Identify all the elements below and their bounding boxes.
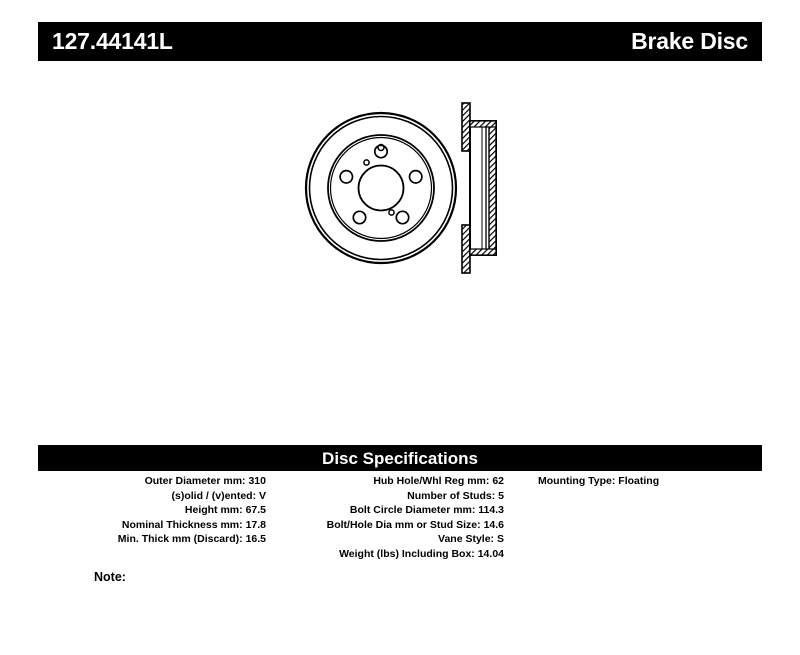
- spec-row: Bolt/Hole Dia mm or Stud Size: 14.6: [327, 518, 504, 533]
- disc-specifications-bar: Disc Specifications: [38, 445, 762, 471]
- brake-rotor-edge-view: [462, 103, 496, 273]
- spec-column-left: Outer Diameter mm: 310 (s)olid / (v)ente…: [38, 474, 266, 547]
- stud-hole-icon: [396, 211, 408, 223]
- spec-label: Hub Hole/Whl Reg mm:: [373, 475, 492, 487]
- spec-value: 114.3: [478, 504, 504, 516]
- technical-drawing: [38, 70, 762, 435]
- stud-hole-icon: [353, 211, 365, 223]
- spec-label: Height mm:: [185, 504, 246, 516]
- specifications-table: Outer Diameter mm: 310 (s)olid / (v)ente…: [38, 474, 762, 562]
- note-block: Note:: [94, 571, 330, 584]
- spec-value: 310: [248, 475, 266, 487]
- hub-bore-icon: [359, 166, 404, 211]
- spec-row: Min. Thick mm (Discard): 16.5: [118, 532, 266, 547]
- spec-value: 67.5: [246, 504, 266, 516]
- disc-outer-cheek-icon: [489, 121, 496, 255]
- disc-top-cheek-icon: [470, 121, 496, 127]
- stud-hole-icon: [410, 171, 422, 183]
- spec-value: 5: [498, 490, 504, 502]
- spec-row: Nominal Thickness mm: 17.8: [122, 518, 266, 533]
- stud-hole-icon: [375, 145, 387, 157]
- hat-flange-lower-icon: [462, 225, 470, 273]
- spec-label: Mounting Type:: [538, 475, 618, 487]
- brake-rotor-face-view: [306, 113, 456, 263]
- part-number: 127.44141L: [52, 30, 173, 53]
- spec-row: Height mm: 67.5: [185, 503, 266, 518]
- spec-value: Floating: [618, 475, 659, 487]
- spec-value: 62: [492, 475, 504, 487]
- spec-value: 16.5: [246, 533, 266, 545]
- spec-value: 14.6: [484, 519, 504, 531]
- locating-pin-hole-icon: [389, 210, 394, 215]
- spec-row: Vane Style: S: [438, 532, 504, 547]
- spec-label: Weight (lbs) Including Box:: [339, 548, 478, 560]
- spec-row: Bolt Circle Diameter mm: 114.3: [350, 503, 504, 518]
- hat-flange-upper-icon: [462, 103, 470, 151]
- spec-row: (s)olid / (v)ented: V: [171, 489, 266, 504]
- spec-value: 17.8: [246, 519, 266, 531]
- product-type-title: Brake Disc: [631, 30, 748, 53]
- note-label: Note:: [94, 571, 126, 584]
- spec-label: (s)olid / (v)ented:: [171, 490, 259, 502]
- spec-label: Bolt/Hole Dia mm or Stud Size:: [327, 519, 484, 531]
- spec-row: Mounting Type: Floating: [538, 474, 659, 489]
- spec-row: Hub Hole/Whl Reg mm: 62: [373, 474, 504, 489]
- spec-label: Min. Thick mm (Discard):: [118, 533, 246, 545]
- spec-column-right: Mounting Type: Floating: [504, 474, 754, 489]
- stud-hole-icon: [340, 171, 352, 183]
- spec-value: S: [497, 533, 504, 545]
- spec-value: V: [259, 490, 266, 502]
- spec-column-middle: Hub Hole/Whl Reg mm: 62 Number of Studs:…: [274, 474, 504, 562]
- spec-label: Nominal Thickness mm:: [122, 519, 246, 531]
- disc-specifications-title: Disc Specifications: [322, 450, 478, 467]
- spec-row: Weight (lbs) Including Box: 14.04: [339, 547, 504, 562]
- brake-disc-diagram: [38, 70, 762, 435]
- disc-bottom-cheek-icon: [470, 249, 496, 255]
- spec-row: Number of Studs: 5: [407, 489, 504, 504]
- spec-label: Outer Diameter mm:: [145, 475, 249, 487]
- spec-label: Bolt Circle Diameter mm:: [350, 504, 478, 516]
- header-bar: 127.44141L Brake Disc: [38, 22, 762, 61]
- spec-row: Outer Diameter mm: 310: [145, 474, 266, 489]
- locating-pin-hole-icon: [364, 160, 369, 165]
- spec-label: Number of Studs:: [407, 490, 498, 502]
- spec-value: 14.04: [478, 548, 504, 560]
- rotor-friction-ring-inner-icon: [331, 138, 432, 239]
- spec-label: Vane Style:: [438, 533, 497, 545]
